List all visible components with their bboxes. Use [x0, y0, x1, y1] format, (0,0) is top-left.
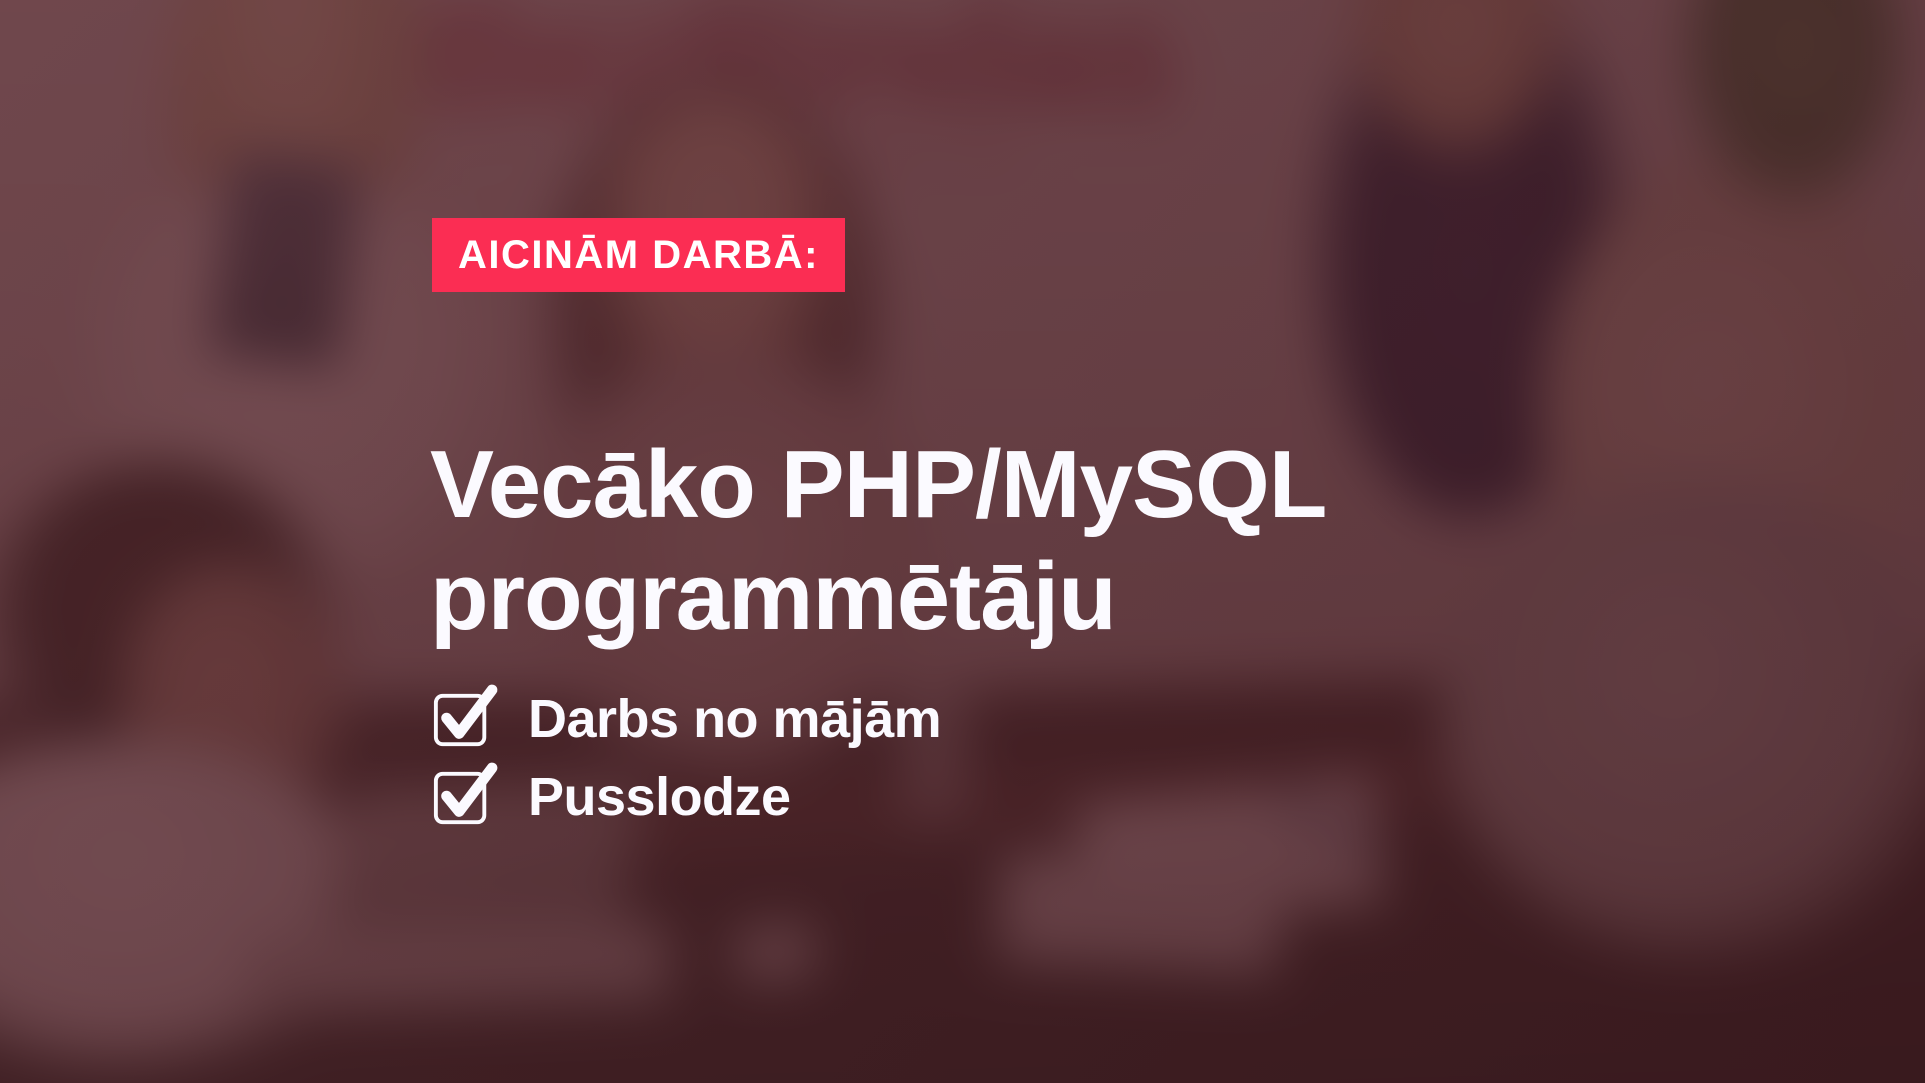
job-title-line-2: programmētāju — [430, 541, 1610, 652]
job-ad-banner: BezRindas darbības laiks AICINĀM DARBĀ: — [0, 0, 1925, 1083]
checkbox-checked-icon — [432, 688, 494, 750]
hiring-badge: AICINĀM DARBĀ: — [432, 218, 845, 292]
banner-content: AICINĀM DARBĀ: Vecāko PHP/MySQL programm… — [0, 0, 1925, 1083]
perk-item: Darbs no mājām — [432, 688, 941, 750]
job-title-line-1: Vecāko PHP/MySQL — [430, 429, 1610, 540]
perks-list: Darbs no mājām Pusslodze — [432, 688, 941, 828]
job-title-headline: Vecāko PHP/MySQL programmētāju — [430, 429, 1610, 652]
hiring-badge-label: AICINĀM DARBĀ: — [458, 235, 819, 275]
perk-label: Darbs no mājām — [528, 691, 941, 748]
perk-item: Pusslodze — [432, 766, 941, 828]
perk-label: Pusslodze — [528, 769, 791, 826]
checkbox-checked-icon — [432, 766, 494, 828]
